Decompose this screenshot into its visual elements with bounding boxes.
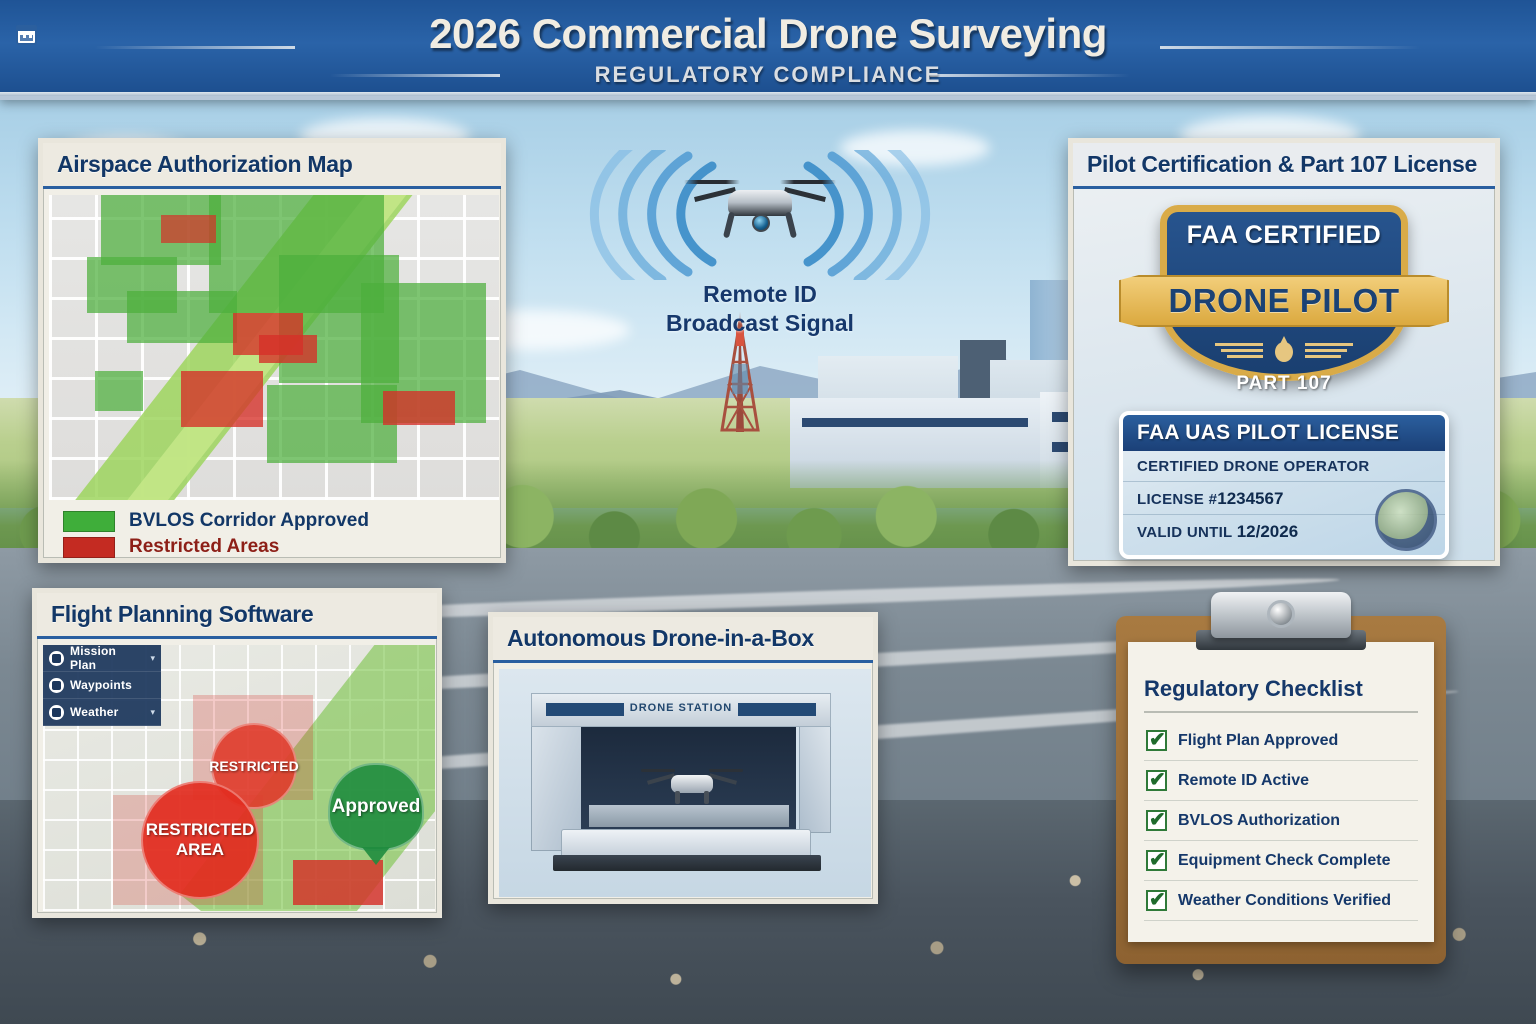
- airspace-authorization-panel: Airspace Authorization Map BVLOS Corrido: [38, 138, 506, 563]
- legend-item-restricted: Restricted Areas: [49, 534, 499, 560]
- checklist-item[interactable]: Equipment Check Complete: [1144, 841, 1418, 881]
- checklist-title: Regulatory Checklist: [1144, 676, 1418, 713]
- page-subtitle: REGULATORY COMPLIANCE: [0, 62, 1536, 88]
- badge-bottom-text: PART 107: [1073, 373, 1495, 395]
- badge-top-text: FAA CERTIFIED: [1073, 221, 1495, 250]
- restricted-zone: [181, 371, 263, 427]
- checkbox-checked-icon[interactable]: [1146, 810, 1167, 831]
- checklist-label: Weather Conditions Verified: [1178, 892, 1391, 910]
- checklist-label: Equipment Check Complete: [1178, 852, 1390, 870]
- official-seal-icon: [1375, 489, 1437, 551]
- approved-zone: [267, 385, 397, 463]
- license-number-value: 1234567: [1217, 489, 1283, 508]
- toolbar-item-weather[interactable]: Weather ▾: [43, 699, 161, 726]
- fps-toolbar: Mission Plan ▾ Waypoints Weather ▾: [43, 645, 161, 726]
- license-holder: CERTIFIED DRONE OPERATOR: [1137, 458, 1370, 475]
- license-valid-value: 12/2026: [1237, 522, 1298, 541]
- callout-approved-label: Approved: [332, 796, 421, 818]
- pilot-certification-panel: Pilot Certification & Part 107 License F…: [1068, 138, 1500, 566]
- pilot-panel-title: Pilot Certification & Part 107 License: [1087, 151, 1477, 178]
- pilot-panel-header: Pilot Certification & Part 107 License: [1073, 143, 1495, 189]
- drone-station-icon: DRONE STATION: [531, 693, 831, 868]
- checklist-item[interactable]: Remote ID Active: [1144, 761, 1418, 801]
- legend-label-restricted: Restricted Areas: [129, 536, 279, 558]
- restricted-zone: [161, 215, 216, 243]
- callout-ra-line1: RESTRICTED: [146, 820, 255, 839]
- approved-zone: [95, 371, 143, 411]
- approved-zone: [127, 291, 237, 343]
- callout-ra-line2: AREA: [176, 840, 224, 859]
- checklist-item[interactable]: BVLOS Authorization: [1144, 801, 1418, 841]
- remote-id-group: Remote ID Broadcast Signal: [560, 150, 960, 350]
- calendar-icon: [16, 25, 37, 45]
- fps-panel-title: Flight Planning Software: [51, 601, 313, 628]
- station-right-wall: [799, 721, 831, 833]
- toolbar-item-waypoints[interactable]: Waypoints: [43, 672, 161, 699]
- badge-ribbon-text: DRONE PILOT: [1168, 282, 1399, 320]
- docked-drone-icon: [649, 765, 735, 805]
- legend-item-approved: BVLOS Corridor Approved: [49, 508, 499, 534]
- toolbar-label-weather: Weather: [70, 705, 119, 719]
- fps-restricted-rect: [293, 860, 383, 905]
- legend-label-approved: BVLOS Corridor Approved: [129, 510, 369, 532]
- toolbar-label-waypoints: Waypoints: [70, 678, 132, 692]
- checklist-item[interactable]: Flight Plan Approved: [1144, 721, 1418, 761]
- remote-id-line1: Remote ID: [560, 280, 960, 309]
- badge-ribbon: DRONE PILOT: [1119, 275, 1449, 327]
- legend-swatch-red: [63, 537, 115, 558]
- restricted-zone: [383, 391, 455, 425]
- license-number-label: LICENSE #: [1137, 491, 1217, 508]
- weather-icon: [49, 705, 64, 720]
- airspace-map-view[interactable]: [49, 195, 499, 500]
- airspace-panel-title: Airspace Authorization Map: [57, 151, 353, 178]
- station-foot: [553, 855, 821, 871]
- page-header: 2026 Commercial Drone Surveying REGULATO…: [0, 0, 1536, 100]
- checklist-label: BVLOS Authorization: [1178, 812, 1340, 830]
- callout-approved[interactable]: Approved: [328, 763, 424, 851]
- checkbox-checked-icon[interactable]: [1146, 730, 1167, 751]
- remote-id-caption: Remote ID Broadcast Signal: [560, 280, 960, 338]
- airspace-map-legend: BVLOS Corridor Approved Restricted Areas: [49, 508, 499, 560]
- regulatory-checklist-clipboard: Regulatory Checklist Flight Plan Approve…: [1116, 616, 1446, 964]
- clipboard-clip-icon[interactable]: [1211, 592, 1351, 638]
- checklist-paper: Regulatory Checklist Flight Plan Approve…: [1128, 642, 1434, 942]
- checkbox-checked-icon[interactable]: [1146, 850, 1167, 871]
- legend-swatch-green: [63, 511, 115, 532]
- callout-restricted-small-label: RESTRICTED: [209, 758, 298, 774]
- license-card-title: FAA UAS PILOT LICENSE: [1137, 421, 1399, 445]
- waypoints-icon: [49, 678, 64, 693]
- pilot-license-card: FAA UAS PILOT LICENSE CERTIFIED DRONE OP…: [1119, 411, 1449, 559]
- airspace-panel-header: Airspace Authorization Map: [43, 143, 501, 189]
- toolbar-item-mission-plan[interactable]: Mission Plan ▾: [43, 645, 161, 672]
- station-label: DRONE STATION: [532, 702, 830, 714]
- infographic-canvas: 2026 Commercial Drone Surveying REGULATO…: [0, 0, 1536, 1024]
- chevron-down-icon[interactable]: ▾: [150, 707, 155, 718]
- dib-illustration: DRONE STATION: [499, 669, 871, 897]
- fps-panel-header: Flight Planning Software: [37, 593, 437, 639]
- page-title: 2026 Commercial Drone Surveying: [0, 10, 1536, 58]
- station-canopy: DRONE STATION: [531, 693, 831, 727]
- checklist-item[interactable]: Weather Conditions Verified: [1144, 881, 1418, 921]
- remote-id-line2: Broadcast Signal: [560, 309, 960, 338]
- checkbox-checked-icon[interactable]: [1146, 770, 1167, 791]
- faa-badge: FAA CERTIFIED DRONE PILOT: [1073, 201, 1495, 386]
- license-card-header: FAA UAS PILOT LICENSE: [1123, 415, 1445, 451]
- flight-planning-panel: Flight Planning Software RESTRICTED REST…: [32, 588, 442, 918]
- license-valid-label: VALID UNTIL: [1137, 524, 1237, 541]
- mission-plan-icon: [49, 651, 64, 666]
- checklist-label: Remote ID Active: [1178, 772, 1309, 790]
- wings-icon: [1209, 336, 1359, 362]
- dib-panel-header: Autonomous Drone-in-a-Box: [493, 617, 873, 663]
- callout-restricted-area[interactable]: RESTRICTED AREA: [141, 781, 259, 899]
- checkbox-checked-icon[interactable]: [1146, 890, 1167, 911]
- toolbar-label-mission-plan: Mission Plan: [70, 644, 144, 672]
- dib-panel-title: Autonomous Drone-in-a-Box: [507, 625, 814, 652]
- station-landing-pad: [589, 805, 789, 827]
- chevron-down-icon[interactable]: ▾: [150, 653, 155, 664]
- restricted-zone: [259, 335, 317, 363]
- drone-in-a-box-panel: Autonomous Drone-in-a-Box DRONE STATION: [488, 612, 878, 904]
- checklist-label: Flight Plan Approved: [1178, 732, 1338, 750]
- drone-icon: [690, 172, 830, 248]
- license-holder-row: CERTIFIED DRONE OPERATOR: [1123, 451, 1445, 482]
- callout-restricted-area-label: RESTRICTED AREA: [146, 820, 255, 859]
